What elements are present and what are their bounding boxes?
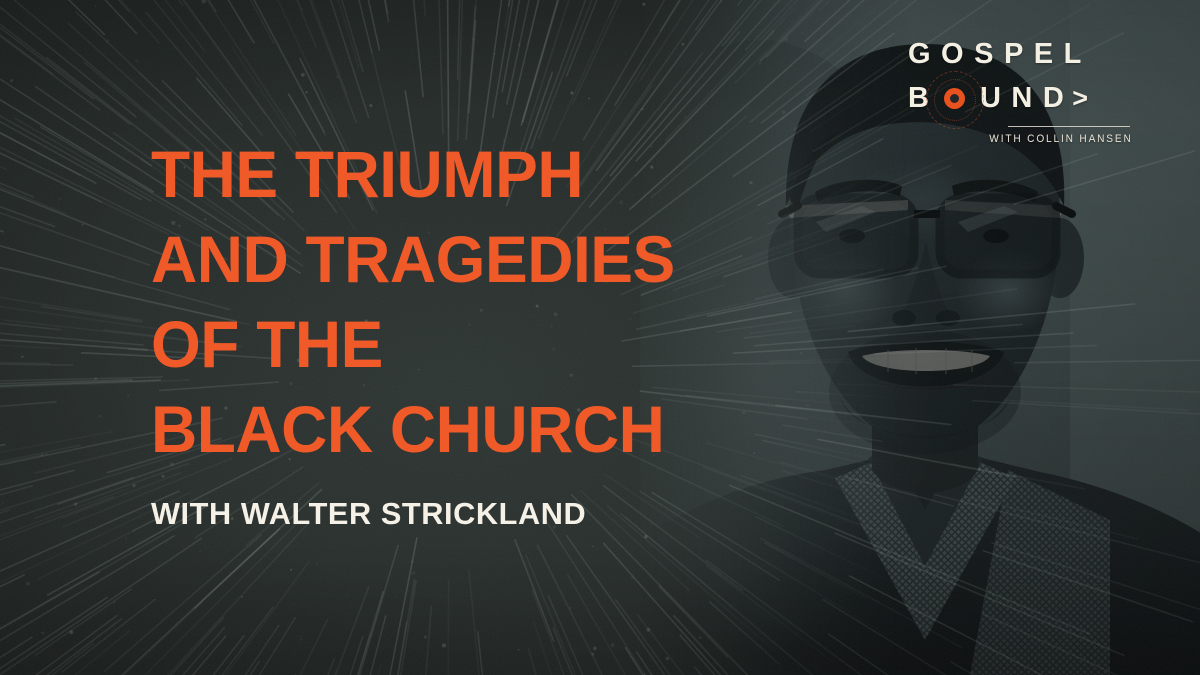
logo-divider-rule <box>1008 126 1130 127</box>
title-line-4: BLACK CHURCH <box>151 387 772 472</box>
logo-host-tagline: WITH COLLIN HANSEN <box>919 133 1140 145</box>
gospel-bound-logo[interactable]: GOSPEL B UND > WITH COLLIN HANSEN <box>900 40 1140 145</box>
podcast-cover-art: THE TRIUMPH AND TRAGEDIES OF THE BLACK C… <box>0 0 1200 675</box>
title-line-2: AND TRAGEDIES <box>151 217 772 302</box>
episode-title: THE TRIUMPH AND TRAGEDIES OF THE BLACK C… <box>151 132 791 472</box>
logo-word-gospel: GOSPEL <box>900 40 1140 69</box>
title-line-3: OF THE <box>151 302 772 387</box>
guest-subtitle: WITH WALTER STRICKLAND <box>151 495 586 533</box>
play-chevron-icon: > <box>1072 85 1088 112</box>
logo-letters-und: UND <box>980 84 1074 113</box>
eye-target-icon <box>939 84 969 113</box>
title-line-1: THE TRIUMPH <box>151 132 772 217</box>
eye-pupil-icon <box>950 94 959 103</box>
logo-word-bound: B UND > <box>900 84 1140 113</box>
